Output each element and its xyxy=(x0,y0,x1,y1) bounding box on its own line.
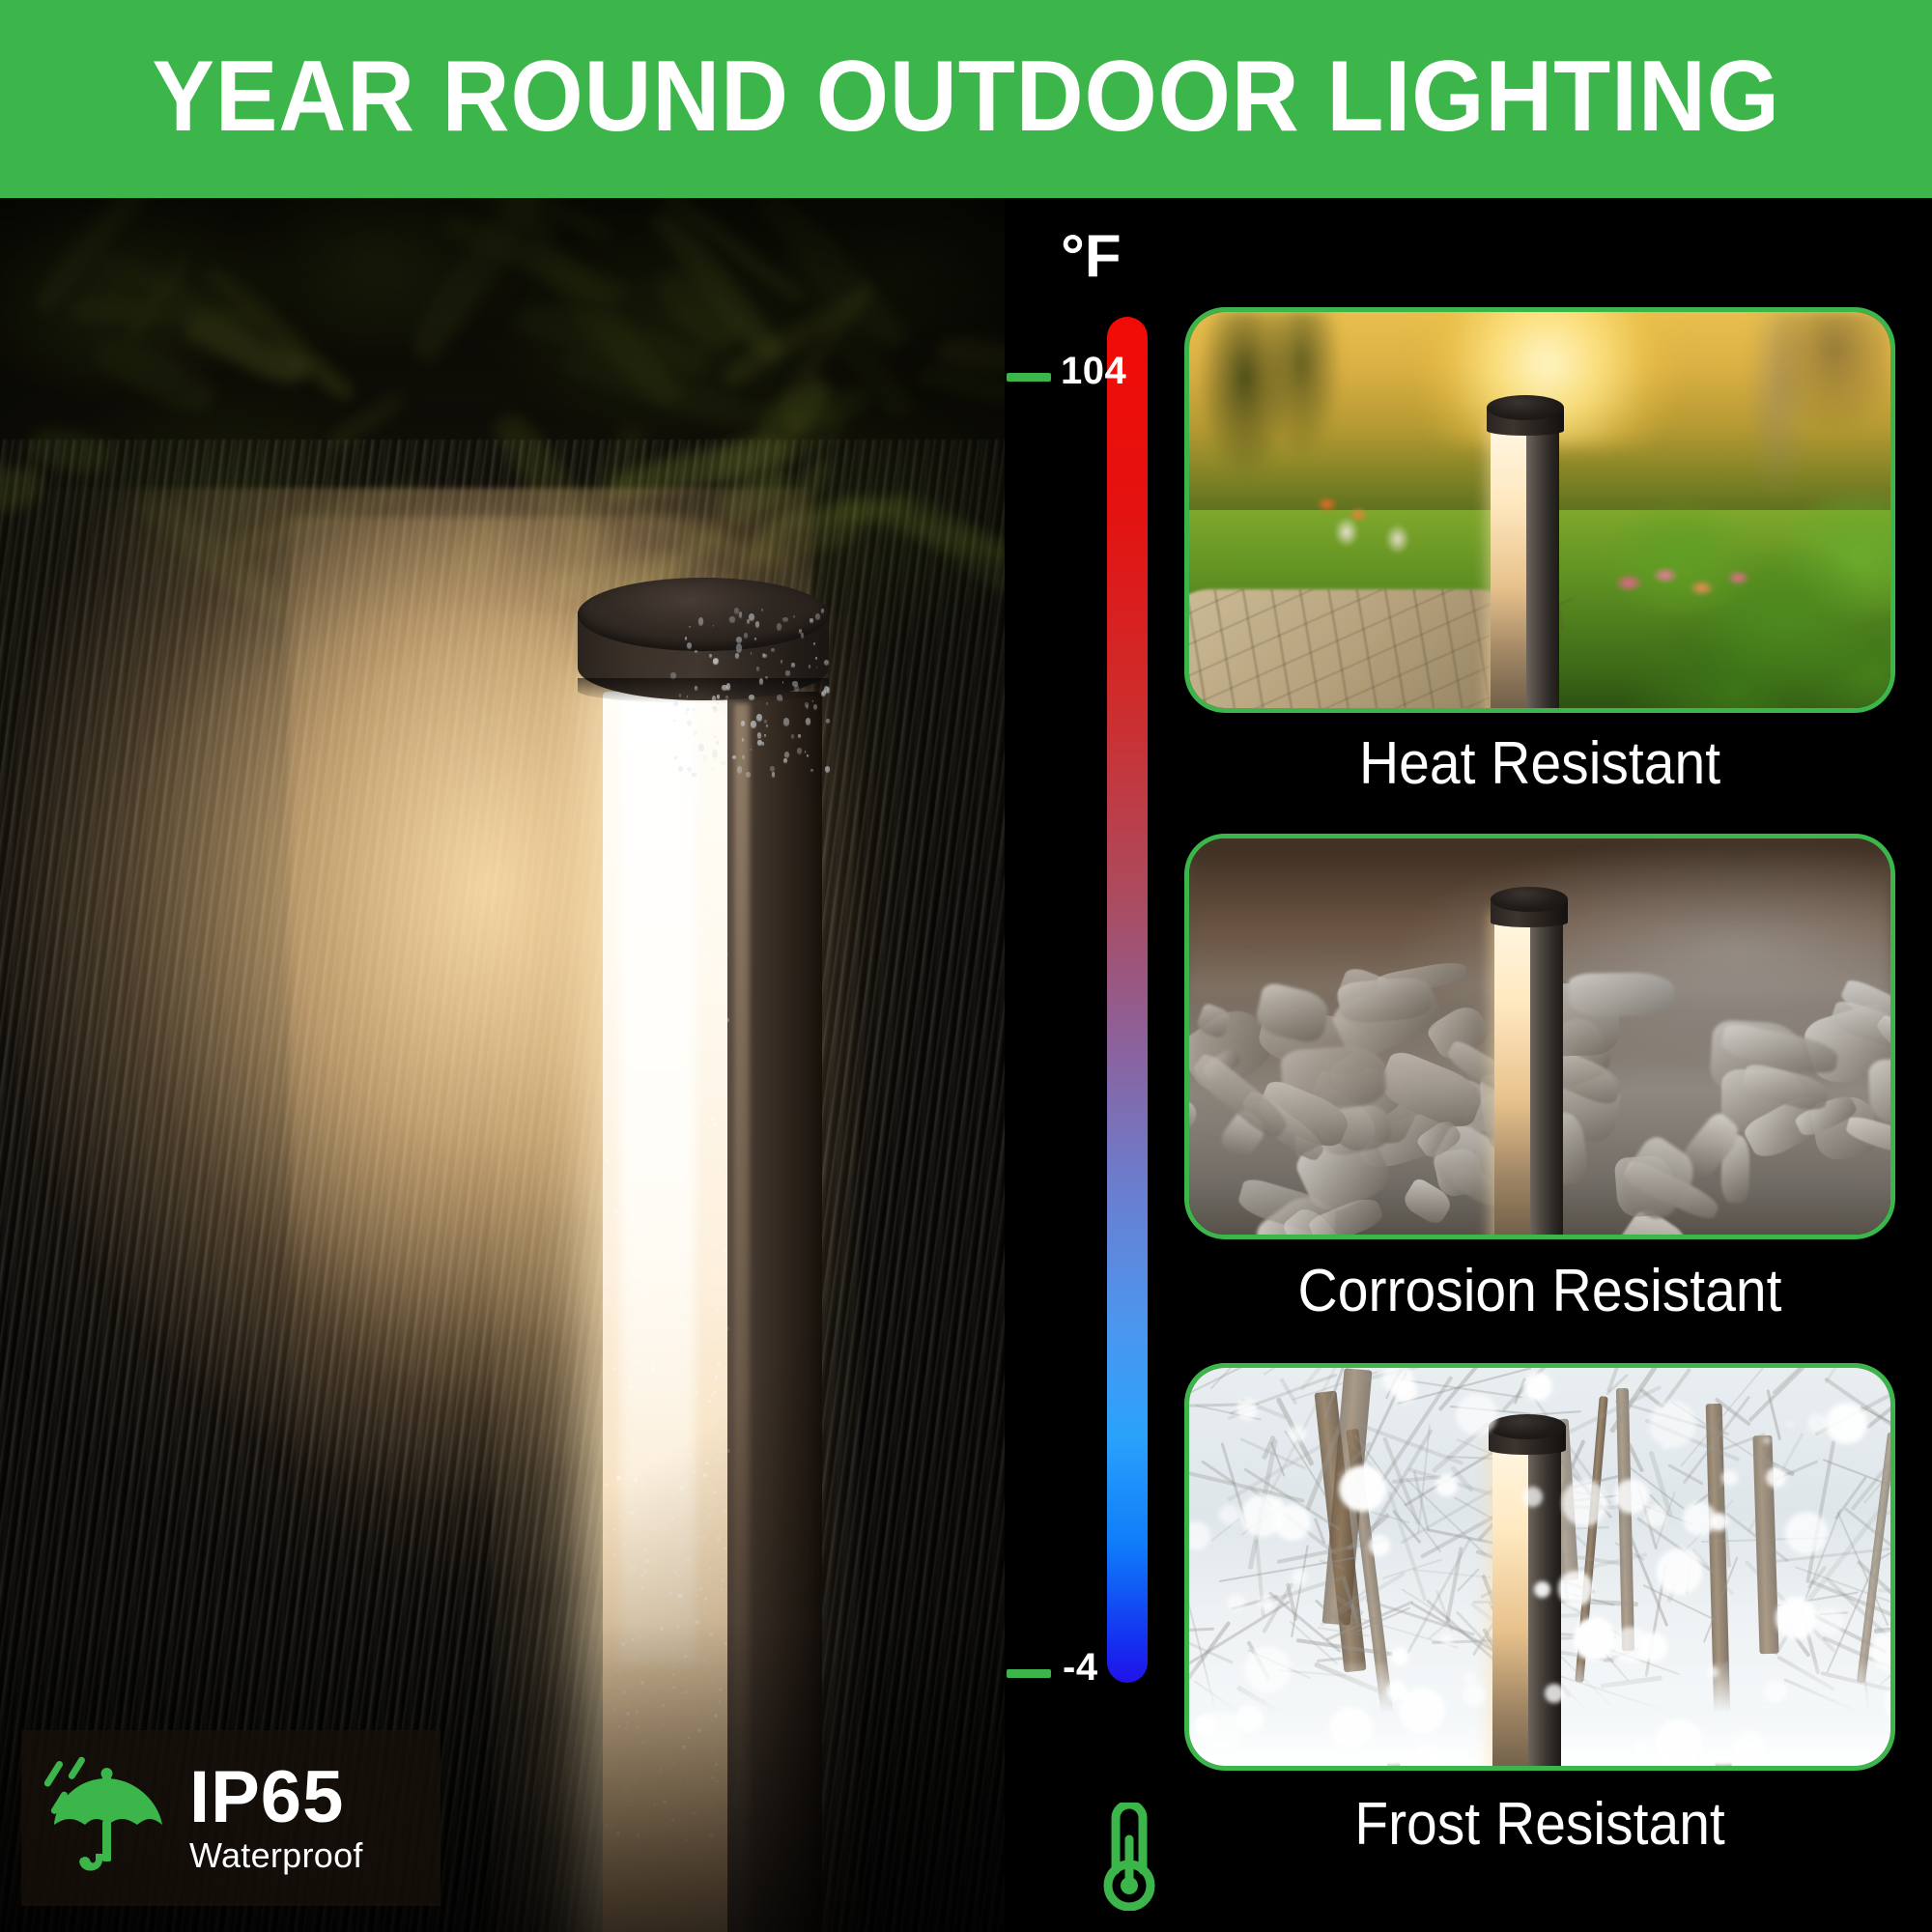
feature-card-heat-resistant[interactable] xyxy=(1184,307,1895,713)
snowflake xyxy=(1369,1535,1390,1556)
snowflake xyxy=(1734,1732,1765,1763)
snowflake xyxy=(1612,1627,1649,1663)
hero-vignette xyxy=(0,198,1005,1932)
snowflake xyxy=(1785,1512,1828,1554)
snowflake xyxy=(1657,1548,1703,1595)
thermometer-icon xyxy=(1088,1803,1171,1911)
snowflake xyxy=(1826,1403,1867,1444)
snowflake xyxy=(1289,1426,1305,1442)
snowflake xyxy=(1391,1647,1408,1664)
ip65-caption: Waterproof xyxy=(189,1837,363,1874)
snowflake xyxy=(1330,1707,1371,1747)
snowflake xyxy=(1456,1394,1497,1435)
snowflake xyxy=(1645,1505,1667,1527)
feature-label-frost-resistant: Frost Resistant xyxy=(1212,1795,1866,1855)
temperature-gradient-bar xyxy=(1107,317,1148,1683)
lamp-cap-top xyxy=(1491,887,1568,912)
snowflake xyxy=(1815,1607,1844,1636)
feature-card-corrosion-resistant[interactable] xyxy=(1184,834,1895,1239)
flower-pots xyxy=(1288,478,1484,565)
snowflake xyxy=(1195,1715,1216,1736)
header-banner: YEAR ROUND OUTDOOR LIGHTING xyxy=(0,0,1932,198)
scene-sunset-garden xyxy=(1189,312,1890,708)
snowflake xyxy=(1227,1594,1244,1611)
bollard-light-thumbnail xyxy=(1487,887,1576,1239)
snowflake xyxy=(1545,1684,1564,1703)
snowflake xyxy=(1534,1581,1550,1598)
snowflake xyxy=(1614,1479,1649,1514)
tick-label-low: -4 xyxy=(1063,1646,1098,1690)
lamp-cap-top xyxy=(1487,395,1564,420)
lamp-cap-top xyxy=(1489,1414,1566,1439)
snowflake xyxy=(1524,1373,1552,1401)
lamp-post-body xyxy=(1530,916,1563,1239)
snowflake xyxy=(1463,1684,1485,1706)
snowflake xyxy=(1236,1705,1264,1733)
snowflake xyxy=(1663,1444,1668,1449)
snowflake xyxy=(1764,1681,1786,1703)
flower-bed xyxy=(1596,557,1778,621)
feature-label-corrosion-resistant: Corrosion Resistant xyxy=(1212,1262,1866,1321)
snowflake xyxy=(1634,1741,1647,1753)
snowflake xyxy=(1558,1571,1594,1606)
snowflake xyxy=(1721,1470,1737,1486)
snowflake xyxy=(1649,1401,1696,1448)
lamp-post-body xyxy=(1526,424,1559,713)
tick-label-high: 104 xyxy=(1061,350,1126,393)
led-glow-panel xyxy=(1491,424,1527,713)
scene-rocky-ground xyxy=(1189,838,1890,1235)
snowflake xyxy=(1259,1596,1273,1610)
snowflake xyxy=(1655,1719,1701,1766)
product-infographic: YEAR ROUND OUTDOOR LIGHTING xyxy=(0,0,1932,1932)
banner-title: YEAR ROUND OUTDOOR LIGHTING xyxy=(152,46,1779,153)
snowflake xyxy=(1776,1597,1818,1639)
umbrella-rain-icon xyxy=(44,1753,168,1883)
snowflake xyxy=(1184,1521,1210,1550)
snowflake xyxy=(1339,1465,1386,1513)
snow-branch xyxy=(1185,1363,1259,1396)
feature-label-heat-resistant: Heat Resistant xyxy=(1212,734,1866,794)
snow-branch xyxy=(1457,1568,1480,1592)
ip65-text-block: IP65 Waterproof xyxy=(189,1762,363,1874)
snowflake xyxy=(1522,1487,1543,1507)
snowflake xyxy=(1787,1421,1793,1427)
tick-mark-high xyxy=(1007,373,1051,382)
snowflake xyxy=(1236,1399,1258,1420)
led-glow-panel xyxy=(1494,916,1531,1239)
snowflake xyxy=(1292,1569,1307,1584)
scene-snowy-forest xyxy=(1189,1368,1890,1766)
snow-branch xyxy=(1188,1628,1214,1633)
ip65-waterproof-badge: IP65 Waterproof xyxy=(21,1730,440,1906)
snowflake xyxy=(1766,1467,1786,1488)
snowflake xyxy=(1562,1480,1608,1526)
feature-card-frost-resistant[interactable] xyxy=(1184,1363,1895,1771)
temperature-unit-label: °F xyxy=(1061,227,1122,287)
bollard-light-thumbnail xyxy=(1483,393,1572,713)
tick-mark-low xyxy=(1007,1669,1051,1678)
hero-image xyxy=(0,198,1005,1932)
snowflake xyxy=(1435,1474,1458,1496)
snowflake xyxy=(1245,1646,1292,1692)
ip65-rating: IP65 xyxy=(189,1762,363,1833)
